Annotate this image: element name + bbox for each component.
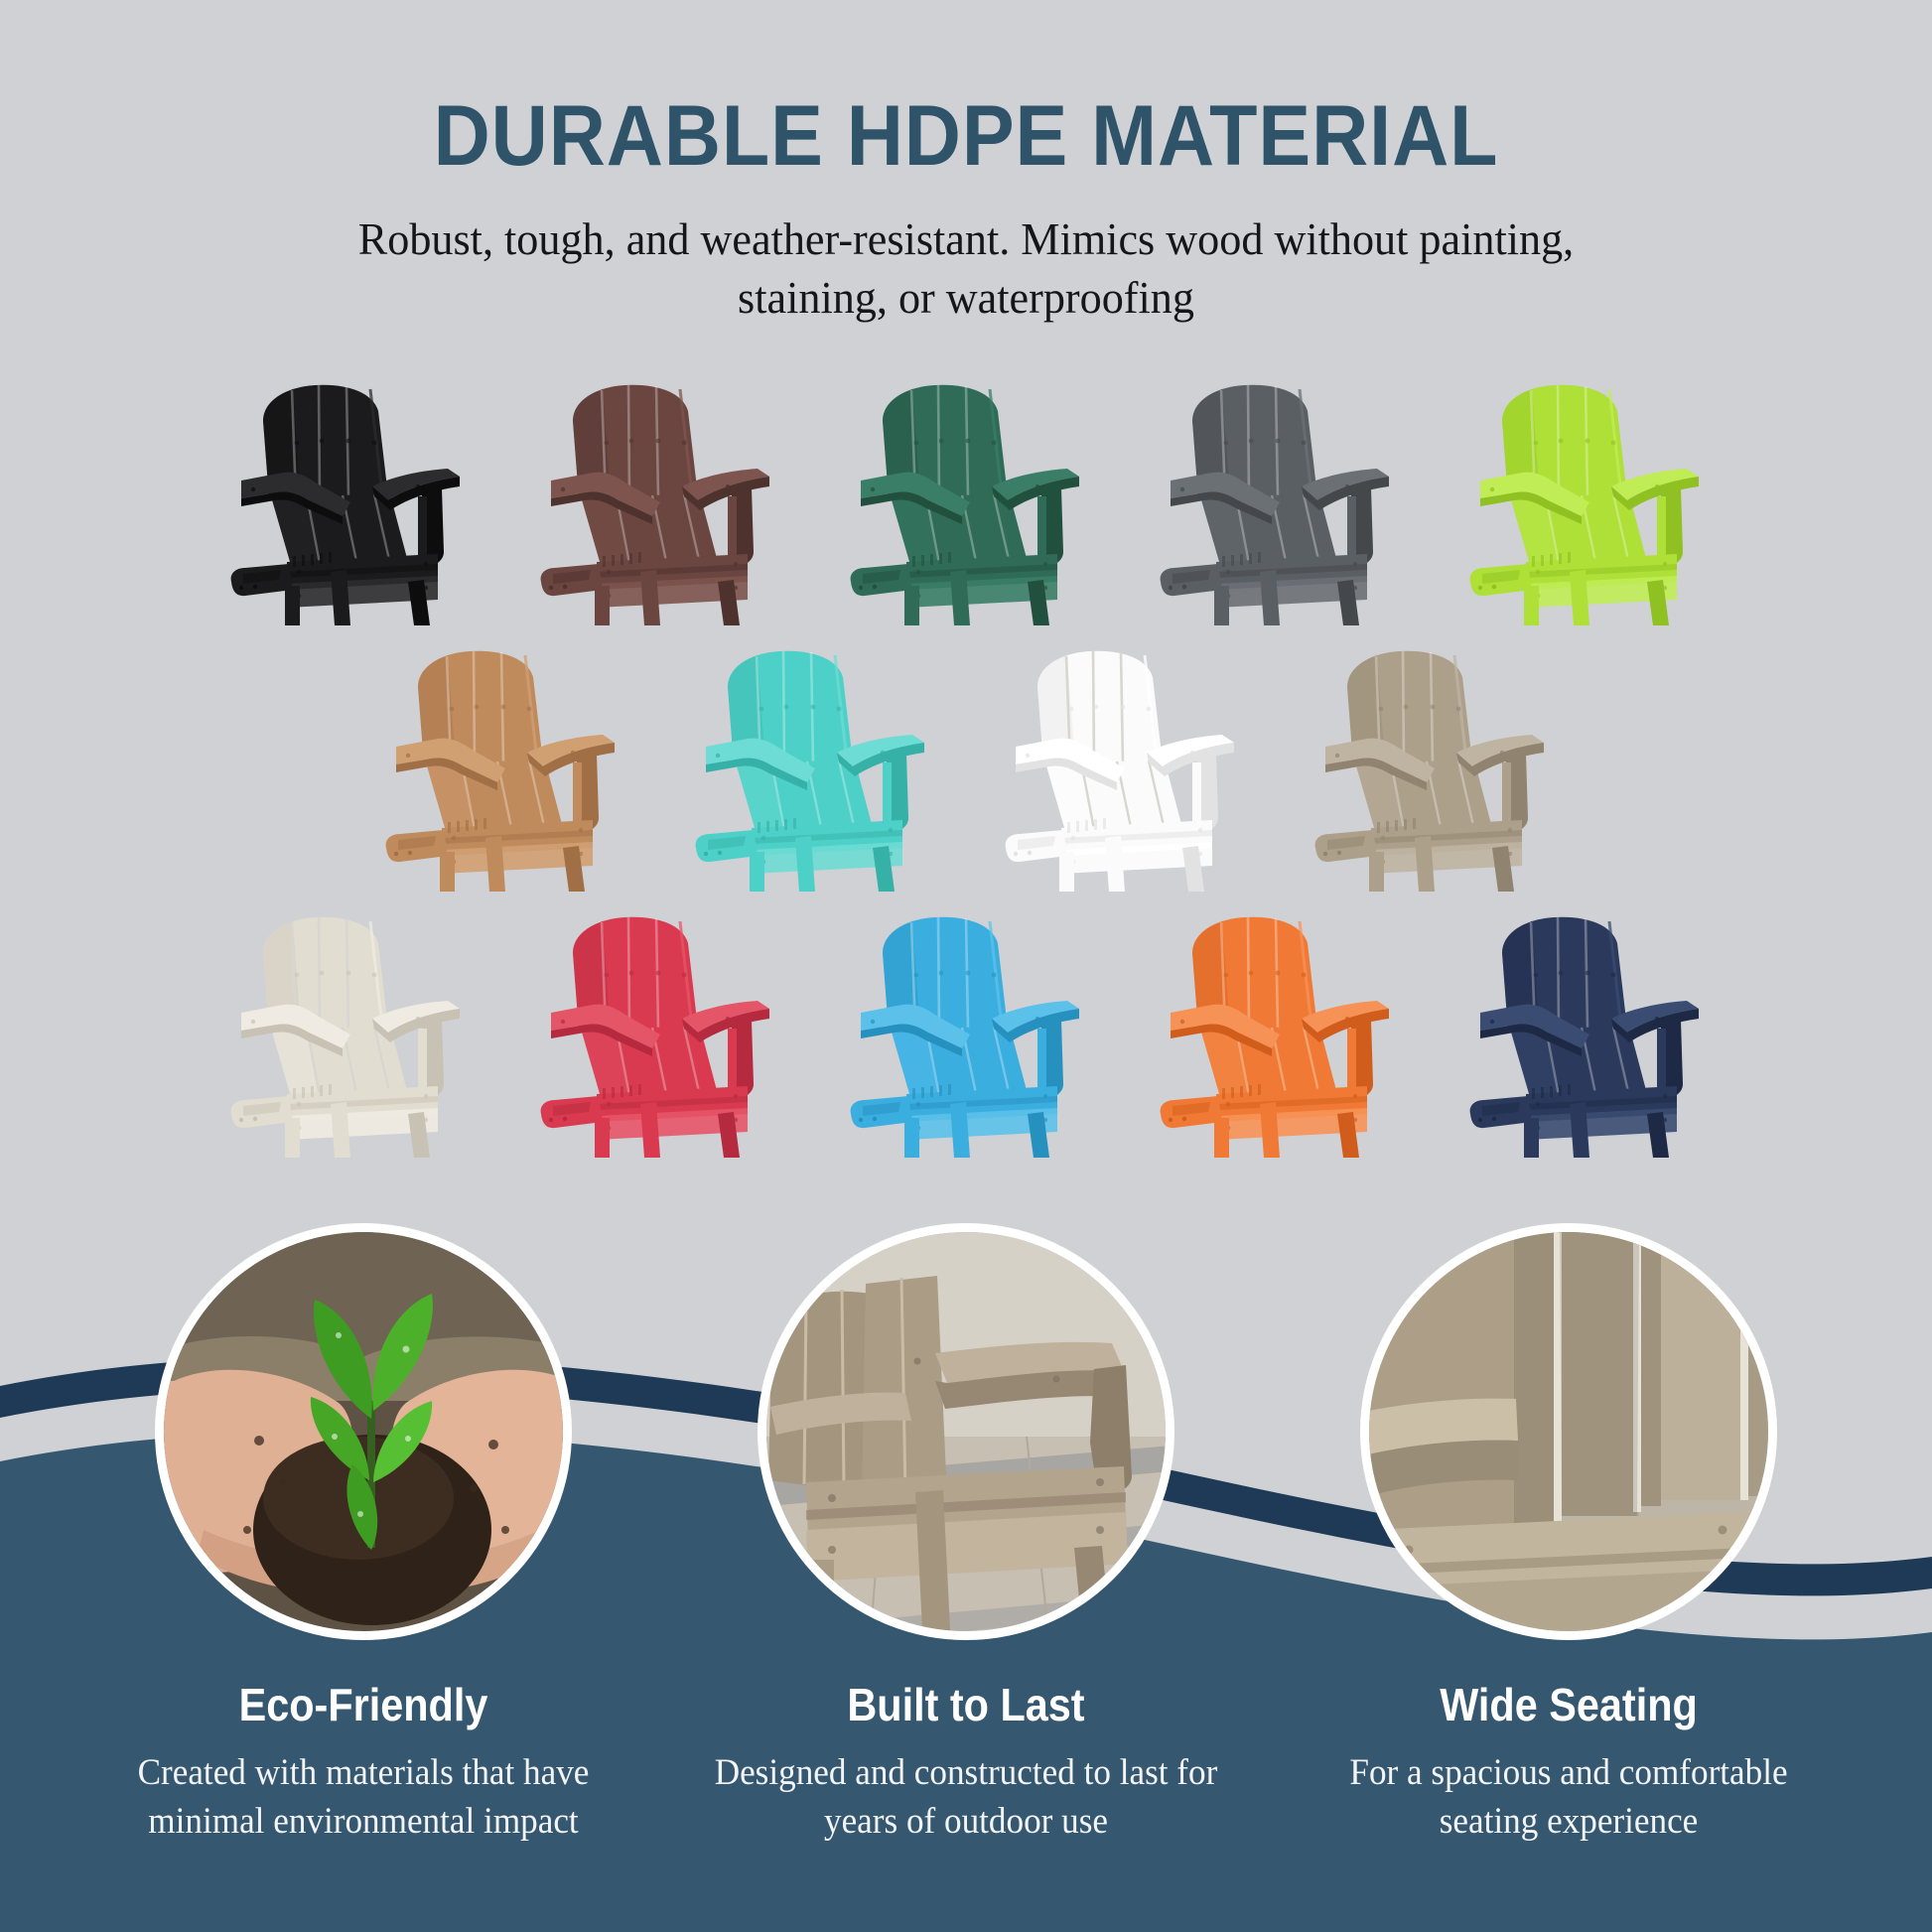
chair-front-left-leg bbox=[904, 1118, 919, 1158]
chair-front-left-leg bbox=[285, 1118, 300, 1158]
chair-ivory bbox=[223, 909, 470, 1158]
chair-swatch-navy[interactable] bbox=[1431, 892, 1740, 1158]
feature-title: Eco-Friendly bbox=[113, 1678, 614, 1731]
chair-front-left-leg bbox=[1369, 852, 1384, 892]
chair-front-runner bbox=[541, 1096, 603, 1128]
chair-swatch-dark-green[interactable] bbox=[811, 359, 1121, 625]
chair-front-runner bbox=[1470, 564, 1532, 596]
chair-seat-closeup bbox=[1369, 1510, 1768, 1631]
chair-svg bbox=[533, 377, 779, 625]
feature-eco-friendly: Eco-FriendlyCreated with materials that … bbox=[85, 1223, 641, 1847]
chair-right-arm-post bbox=[1347, 496, 1356, 558]
closeup-of-wide-chair-seat-slats bbox=[1369, 1232, 1768, 1631]
chair-front-left-leg bbox=[285, 586, 300, 625]
chair-front-runner bbox=[231, 1096, 293, 1128]
chair-svg bbox=[843, 377, 1089, 625]
chair-svg bbox=[378, 643, 624, 892]
chair-front-runner bbox=[231, 564, 293, 596]
chair-sky-blue bbox=[843, 909, 1089, 1158]
chair-swatch-teak[interactable] bbox=[346, 625, 656, 892]
page-title: DURABLE HDPE MATERIAL bbox=[77, 0, 1855, 181]
chair-right-arm-post bbox=[418, 496, 427, 558]
feature-wide-seating: Wide SeatingFor a spacious and comfortab… bbox=[1291, 1223, 1847, 1847]
chair-right-arm-post bbox=[573, 762, 582, 824]
chair-svg bbox=[1153, 909, 1399, 1158]
chair-front-left-leg bbox=[1524, 586, 1539, 625]
chair-front-left-leg bbox=[904, 586, 919, 625]
chair-swatch-black[interactable] bbox=[192, 359, 501, 625]
chair-front-left-leg bbox=[750, 852, 764, 892]
chair-right-arm-post bbox=[728, 496, 737, 558]
chair-svg bbox=[223, 377, 470, 625]
chair-right-arm-post bbox=[1657, 1029, 1666, 1090]
chair-front-left-leg bbox=[440, 852, 455, 892]
chair-swatch-sky-blue[interactable] bbox=[811, 892, 1121, 1158]
photo-chair-patio bbox=[766, 1232, 1166, 1631]
chair-right-arm-post bbox=[728, 1029, 737, 1090]
feature-image-circle bbox=[155, 1223, 572, 1640]
chair-front-runner bbox=[1161, 1096, 1222, 1128]
chair-front-runner bbox=[1006, 830, 1067, 862]
chair-swatch-weathered-wood[interactable] bbox=[1276, 625, 1586, 892]
chair-svg bbox=[998, 643, 1244, 892]
chair-front-runner bbox=[851, 1096, 912, 1128]
chair-lime-green bbox=[1462, 377, 1709, 625]
feature-description: Designed and constructed to last for yea… bbox=[702, 1749, 1230, 1847]
header: DURABLE HDPE MATERIAL Robust, tough, and… bbox=[0, 0, 1932, 328]
chair-right-arm-post bbox=[1037, 1029, 1046, 1090]
chair-svg bbox=[1462, 909, 1709, 1158]
feature-image-circle bbox=[1360, 1223, 1777, 1640]
feature-built-to-last: Built to LastDesigned and constructed to… bbox=[688, 1223, 1244, 1847]
chair-black bbox=[223, 377, 470, 625]
chair-teak bbox=[378, 643, 624, 892]
chair-swatch-ivory[interactable] bbox=[192, 892, 501, 1158]
chair-white bbox=[998, 643, 1244, 892]
chair-red bbox=[533, 909, 779, 1158]
chair-right-arm-post bbox=[418, 1029, 427, 1090]
chair-front-left-leg bbox=[1059, 852, 1074, 892]
chair-gray bbox=[1153, 377, 1399, 625]
chair-swatch-gray[interactable] bbox=[1121, 359, 1431, 625]
photo-wide-seat-closeup bbox=[1369, 1232, 1768, 1631]
chair-svg bbox=[533, 909, 779, 1158]
chair-right-arm-post bbox=[883, 762, 892, 824]
chair-svg bbox=[1308, 643, 1554, 892]
chair-row bbox=[0, 359, 1932, 625]
chair-front-left-leg bbox=[1524, 1118, 1539, 1158]
chair-front-left-leg bbox=[1214, 1118, 1229, 1158]
chair-swatch-turquoise[interactable] bbox=[656, 625, 966, 892]
chair-orange bbox=[1153, 909, 1399, 1158]
chair-row bbox=[0, 625, 1932, 892]
chair-svg bbox=[1153, 377, 1399, 625]
chair-right-arm-post bbox=[1347, 1029, 1356, 1090]
chair-front-runner bbox=[851, 564, 912, 596]
chair-front-left-leg bbox=[595, 586, 610, 625]
chair-navy bbox=[1462, 909, 1709, 1158]
chair-right-arm-post bbox=[1657, 496, 1666, 558]
chair-front-left-leg bbox=[595, 1118, 610, 1158]
chair-front-runner bbox=[1470, 1096, 1532, 1128]
chair-svg bbox=[223, 909, 470, 1158]
chair-right-arm-post bbox=[1502, 762, 1511, 824]
chair-front-runner bbox=[1161, 564, 1222, 596]
feature-description: Created with materials that have minimal… bbox=[99, 1749, 627, 1847]
taupe-adirondack-chair-on-stone-patio bbox=[766, 1232, 1166, 1631]
chair-swatch-red[interactable] bbox=[501, 892, 811, 1158]
chair-swatch-white[interactable] bbox=[966, 625, 1276, 892]
chair-front-left-leg bbox=[1214, 586, 1229, 625]
chair-front-runner bbox=[696, 830, 758, 862]
chair-svg bbox=[843, 909, 1089, 1158]
page-subtitle: Robust, tough, and weather-resistant. Mi… bbox=[328, 181, 1604, 328]
chair-dark-green bbox=[843, 377, 1089, 625]
chair-front-runner bbox=[386, 830, 448, 862]
chair-svg bbox=[1462, 377, 1709, 625]
feature-image-circle bbox=[758, 1223, 1174, 1640]
chair-turquoise bbox=[688, 643, 934, 892]
feature-title: Built to Last bbox=[716, 1678, 1216, 1731]
chair-swatch-lime-green[interactable] bbox=[1431, 359, 1740, 625]
chair-swatch-brown[interactable] bbox=[501, 359, 811, 625]
hands-holding-seedling-in-soil bbox=[164, 1232, 563, 1631]
chair-front-runner bbox=[1315, 830, 1377, 862]
chair-row bbox=[0, 892, 1932, 1158]
infographic-page: DURABLE HDPE MATERIAL Robust, tough, and… bbox=[0, 0, 1932, 1932]
chair-front-runner bbox=[541, 564, 603, 596]
chair-weathered-wood bbox=[1308, 643, 1554, 892]
chair-right-arm-post bbox=[1037, 496, 1046, 558]
photo-hands-seedling bbox=[164, 1232, 563, 1631]
features-section: Eco-FriendlyCreated with materials that … bbox=[0, 1223, 1932, 1932]
chair-color-grid bbox=[0, 359, 1932, 1158]
feature-description: For a spacious and comfortable seating e… bbox=[1305, 1749, 1833, 1847]
chair-right-arm-post bbox=[1192, 762, 1201, 824]
chair-swatch-orange[interactable] bbox=[1121, 892, 1431, 1158]
feature-title: Wide Seating bbox=[1318, 1678, 1819, 1731]
chair-svg bbox=[688, 643, 934, 892]
chair-brown bbox=[533, 377, 779, 625]
